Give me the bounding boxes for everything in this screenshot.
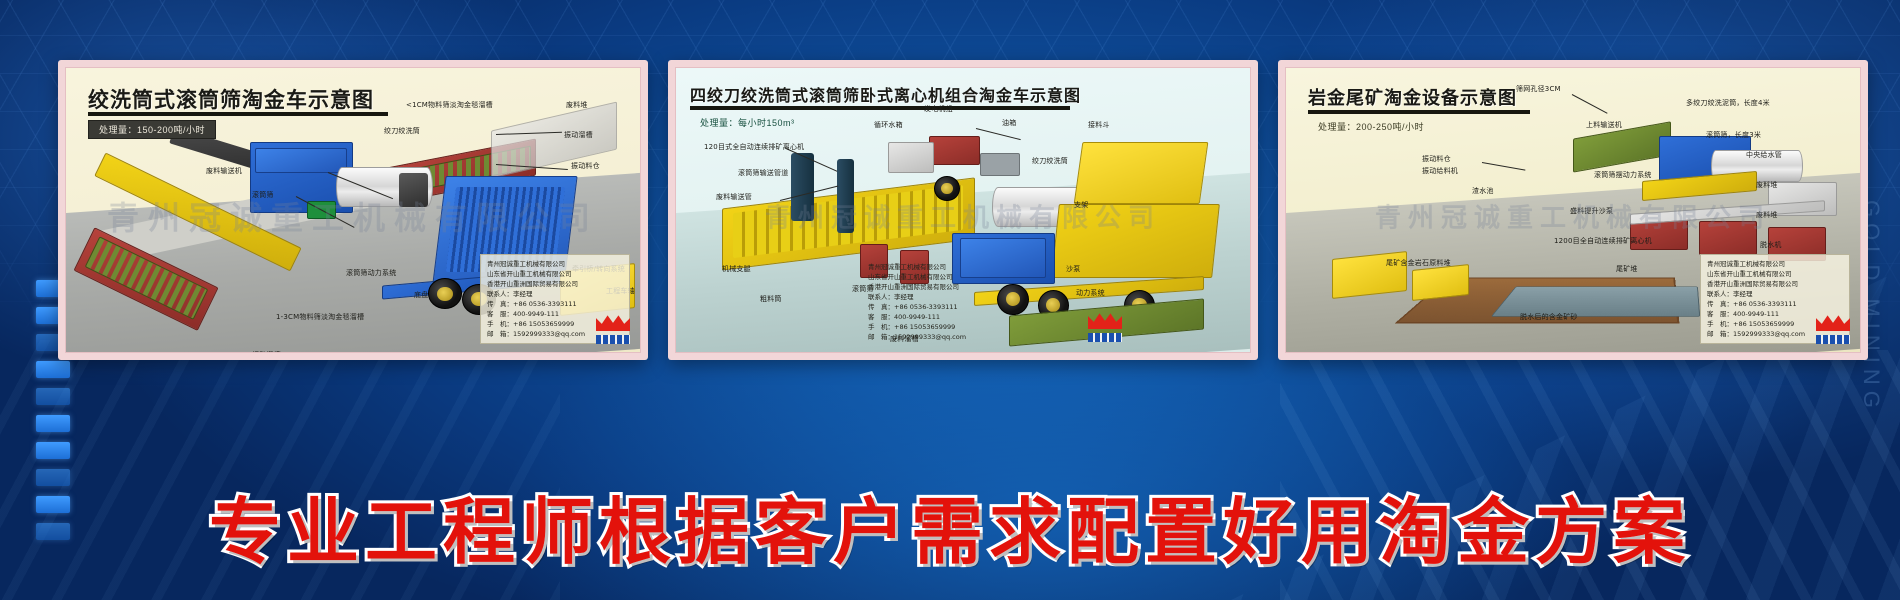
panel-3-title: 岩金尾矿淘金设备示意图 [1308, 84, 1517, 110]
panel-3-label-12: 尾矿堆 [1616, 264, 1638, 274]
panel-2-label-3: 接料斗 [1088, 120, 1110, 130]
panel-1-capacity: 处理量：150-200吨/小时 [88, 120, 216, 139]
panel-1-label-0: <1CM物料筛淡淘金毯溜槽 [406, 100, 493, 110]
crown-icon [596, 314, 630, 331]
contact-person: 联系人：李经理 [868, 292, 1006, 302]
contact-company: 青州冠诚重工机械有限公司 [868, 262, 1006, 272]
contact-fax: 传 真：+86 0536-3393111 [487, 299, 623, 309]
contact-fax: 传 真：+86 0536-3393111 [868, 302, 1006, 312]
contact-person: 联系人：李经理 [487, 289, 623, 299]
panel-2-label-1: 循环水箱 [874, 120, 903, 130]
diagram-panel-2[interactable]: 四绞刀绞洗筒式滚筒筛卧式离心机组合淘金车示意图 处理量：每小时150m³ 发电机… [668, 60, 1258, 360]
panel-3-label-15: 尾矿含金岩石原料堆 [1386, 258, 1451, 268]
fuel-tank [980, 153, 1020, 176]
panel-2-label-6: 滚筒筛输送管道 [738, 168, 788, 178]
contact-mobile: 手 机：+86 15053659999 [868, 322, 1006, 332]
panel-1-label-1: 废料堆 [566, 100, 588, 110]
panel-1-label-2: 振动溜槽 [564, 130, 593, 140]
panel-2-watermark: 青州冠诚重工机械有限公司 [765, 197, 1161, 234]
generator-housing [888, 142, 934, 173]
panel-3-watermark: 青州冠诚重工机械有限公司 [1375, 197, 1771, 234]
panel-2-label-13: 动力系统 [1076, 288, 1105, 298]
panel-3-label-4: 中央给水管 [1746, 150, 1782, 160]
contact-company: 青州冠诚重工机械有限公司 [487, 259, 623, 269]
logo-base-bar [1088, 333, 1122, 342]
receiving-hopper [1073, 142, 1208, 204]
panel-3-label-14: 脱水机 [1760, 240, 1782, 250]
company-logo-icon [596, 314, 630, 344]
contact-company-3: 香港开山重洲国际贸易有限公司 [487, 279, 623, 289]
contact-fax: 传 真：+86 0536-3393111 [1707, 299, 1843, 309]
panel-2-label-9: 机械支腿 [722, 264, 751, 274]
panel-2-label-12: 沙泵 [1066, 264, 1080, 274]
generator-unit [929, 136, 981, 164]
panel-1-watermark: 青州冠诚重工机械有限公司 [107, 193, 599, 239]
panel-3-label-7: 滚筒筛摆动力系统 [1594, 170, 1652, 180]
panel-3-label-0: 筛网孔径3CM [1516, 84, 1561, 94]
panel-1-label-3: 振动料仓 [571, 161, 600, 171]
panel-2-label-5: 绞刀绞洗筒 [1032, 156, 1068, 166]
company-logo-icon [1088, 312, 1122, 342]
panel-2-capacity: 处理量：每小时150m³ [690, 114, 805, 131]
diagram-panels-row: 绞洗筒式滚筒筛淘金车示意图 处理量：150-200吨/小时 <1CM物料筛淡淘金… [0, 60, 1900, 360]
excavator [1412, 264, 1469, 301]
panel-2-title-underline [690, 106, 1070, 110]
panel-3-label-9: 渣水池 [1472, 186, 1494, 196]
contact-company-3: 香港开山重洲国际贸易有限公司 [1707, 279, 1843, 289]
contact-company-2: 山东省开山重工机械有限公司 [868, 272, 1006, 282]
panel-3-label-13: 1200目全自动连续排矿离心机 [1554, 236, 1652, 246]
panel-1-label-11: 1-3CM物料筛淡淘金毯溜槽 [276, 312, 364, 322]
panel-3-label-6: 振动给料机 [1422, 166, 1458, 176]
panel-3-label-8: 废料堆 [1756, 180, 1778, 190]
panel-3-label-16: 脱水后的含金矿砂 [1520, 312, 1578, 322]
contact-email: 邮 箱：1592999333@qq.com [868, 332, 1006, 342]
panel-2-label-0: 发电机组 [924, 104, 953, 114]
panel-3-capacity: 处理量：200-250吨/小时 [1308, 118, 1434, 135]
panel-2-label-7: 废料输送管 [716, 192, 752, 202]
blue-frame-cage [255, 148, 347, 174]
logo-base-bar [1816, 335, 1850, 344]
promo-headline: 专业工程师根据客户需求配置好用淘金方案 [0, 473, 1900, 578]
contact-company: 青州冠诚重工机械有限公司 [1707, 259, 1843, 269]
panel-3-label-5: 振动料仓 [1422, 154, 1451, 164]
contact-company-3: 香港开山重洲国际贸易有限公司 [868, 282, 1006, 292]
panel-3-label-1: 多绞刀绞洗泥筒，长度4米 [1686, 98, 1770, 108]
contact-company-2: 山东省开山重工机械有限公司 [487, 269, 623, 279]
headline-area: 专业工程师根据客户需求配置好用淘金方案 [0, 370, 1900, 600]
panel-1-label-5: 废料输送机 [206, 166, 242, 176]
promo-banner: GOLD MINING [0, 0, 1900, 600]
panel-1-label-12: 振动溜槽 [252, 350, 281, 353]
company-logo-icon [1816, 314, 1850, 344]
panel-2-label-10: 粗料筒 [760, 294, 782, 304]
panel-3-title-underline [1308, 110, 1530, 114]
crown-icon [1088, 312, 1122, 329]
panel-2-title: 四绞刀绞洗筒式滚筒筛卧式离心机组合淘金车示意图 [690, 82, 1081, 106]
panel-3-label-3: 滚筒筛，长度3米 [1706, 130, 1761, 140]
logo-base-bar [596, 335, 630, 344]
crown-icon [1816, 314, 1850, 331]
panel-1-title: 绞洗筒式滚筒筛淘金车示意图 [88, 84, 374, 114]
panel-2-label-2: 油箱 [1002, 118, 1016, 128]
diagram-panel-3[interactable]: 岩金尾矿淘金设备示意图 处理量：200-250吨/小时 筛网孔径3CM 多绞刀绞… [1278, 60, 1868, 360]
panel-2-label-4: 120目式全自动连续排矿离心机 [704, 142, 804, 152]
panel-1-label-7: 滚筒筛动力系统 [346, 268, 396, 278]
panel-3-label-2: 上料输送机 [1586, 120, 1622, 130]
diagram-panel-1[interactable]: 绞洗筒式滚筒筛淘金车示意图 处理量：150-200吨/小时 <1CM物料筛淡淘金… [58, 60, 648, 360]
contact-company-2: 山东省开山重工机械有限公司 [1707, 269, 1843, 279]
panel-1-label-8: 底盘 [414, 290, 428, 300]
contact-hotline: 客 服：400-9949-111 [868, 312, 1006, 322]
panel-1-title-underline [88, 112, 388, 116]
contact-person: 联系人：李经理 [1707, 289, 1843, 299]
panel-1-label-4: 绞刀绞洗筒 [384, 126, 420, 136]
panel-2-contact-card: 青州冠诚重工机械有限公司 山东省开山重工机械有限公司 香港开山重洲国际贸易有限公… [862, 258, 1012, 347]
